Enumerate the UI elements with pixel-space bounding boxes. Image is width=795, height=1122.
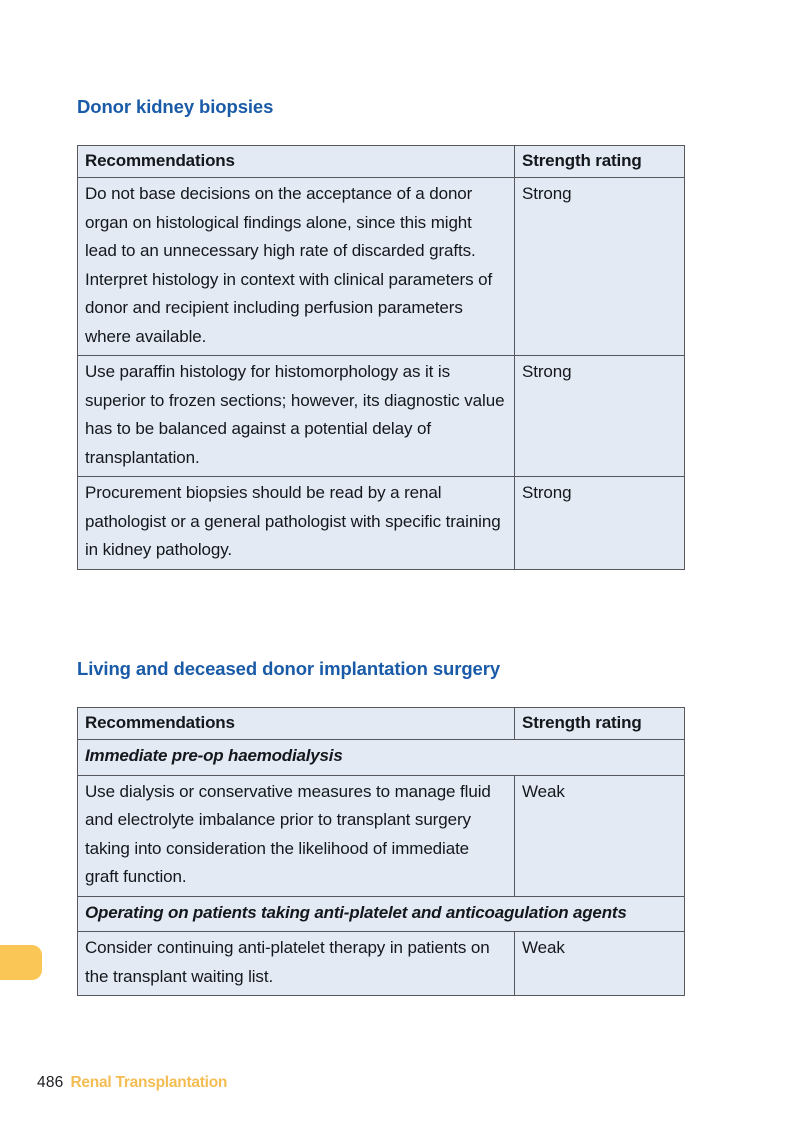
column-header-strength-rating: Strength rating xyxy=(515,708,685,740)
strength-rating-value: Strong xyxy=(515,477,685,570)
table-subheader-row: Operating on patients taking anti-platel… xyxy=(78,896,685,932)
table-header-row: Recommendations Strength rating xyxy=(78,146,685,178)
section-heading-living-and-deceased-donor-implantation-surgery: Living and deceased donor implantation s… xyxy=(77,659,500,679)
table-subheader-immediate-pre-op-haemodialysis: Immediate pre-op haemodialysis xyxy=(78,740,685,776)
document-page: Donor kidney biopsies Recommendations St… xyxy=(0,0,795,1122)
table-subheader-row: Immediate pre-op haemodialysis xyxy=(78,740,685,776)
strength-rating-value: Weak xyxy=(515,932,685,996)
recommendation-text: Use dialysis or conservative measures to… xyxy=(78,775,515,896)
table-subheader-operating-on-patients-taking-anti-platelet-and-anticoagulation-agents: Operating on patients taking anti-platel… xyxy=(78,896,685,932)
table-row: Use dialysis or conservative measures to… xyxy=(78,775,685,896)
strength-rating-value: Weak xyxy=(515,775,685,896)
table-row: Do not base decisions on the acceptance … xyxy=(78,178,685,356)
strength-rating-value: Strong xyxy=(515,356,685,477)
recommendation-text: Do not base decisions on the acceptance … xyxy=(78,178,515,356)
recommendations-table-donor-kidney-biopsies: Recommendations Strength rating Do not b… xyxy=(77,145,685,570)
section-tab-marker xyxy=(0,945,42,980)
footer-document-title: Renal Transplantation xyxy=(70,1074,227,1091)
table-row: Consider continuing anti-platelet therap… xyxy=(78,932,685,996)
recommendation-text: Use paraffin histology for histomorpholo… xyxy=(78,356,515,477)
recommendation-text: Procurement biopsies should be read by a… xyxy=(78,477,515,570)
table-row: Procurement biopsies should be read by a… xyxy=(78,477,685,570)
recommendations-table-implantation-surgery: Recommendations Strength rating Immediat… xyxy=(77,707,685,996)
footer-page-number: 486 xyxy=(37,1074,63,1091)
section-heading-donor-kidney-biopsies: Donor kidney biopsies xyxy=(77,97,273,117)
page-footer: 486Renal Transplantation xyxy=(37,1073,227,1093)
column-header-strength-rating: Strength rating xyxy=(515,146,685,178)
column-header-recommendations: Recommendations xyxy=(78,146,515,178)
strength-rating-value: Strong xyxy=(515,178,685,356)
table-row: Use paraffin histology for histomorpholo… xyxy=(78,356,685,477)
table-header-row: Recommendations Strength rating xyxy=(78,708,685,740)
recommendation-text: Consider continuing anti-platelet therap… xyxy=(78,932,515,996)
column-header-recommendations: Recommendations xyxy=(78,708,515,740)
